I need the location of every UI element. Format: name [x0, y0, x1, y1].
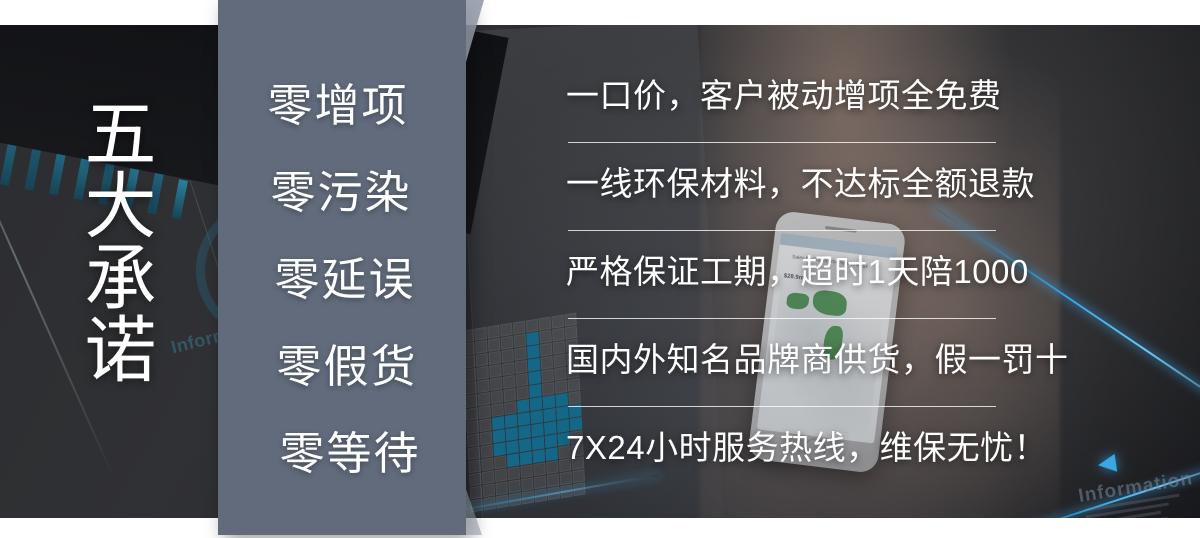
- grid-cell: [503, 388, 515, 402]
- grid-cell: [520, 464, 532, 478]
- promise-text-0: 一口价，客户被动增项全免费: [566, 74, 1002, 118]
- grid-cell: [539, 330, 551, 344]
- grid-cell: [526, 332, 538, 346]
- grid-cell: [505, 414, 517, 428]
- keyword-item-2: 零延误: [218, 232, 466, 319]
- grid-cell: [468, 446, 480, 460]
- grid-cell: [551, 315, 563, 329]
- bar-1: [0, 93, 26, 186]
- grid-cell: [466, 420, 478, 434]
- grid-cell: [543, 408, 555, 422]
- grid-cell: [467, 433, 479, 447]
- grid-cell: [546, 460, 558, 474]
- grid-cell: [507, 453, 519, 467]
- grid-cell: [539, 317, 551, 331]
- grid-cell: [503, 375, 515, 389]
- grid-cell: [481, 457, 493, 471]
- promise-row-1: 一线环保材料，不达标全额退款: [566, 154, 1036, 242]
- bar-8: [172, 179, 188, 219]
- grid-cell: [482, 470, 494, 484]
- keyword-list: 零增项 零污染 零延误 零假货 零等待: [218, 58, 466, 493]
- grid-cell: [528, 358, 540, 372]
- grid-cell: [545, 447, 557, 461]
- panel-fold-bottom-icon: [466, 489, 482, 535]
- promise-text-1: 一线环保材料，不达标全额退款: [566, 162, 1035, 206]
- grid-cell: [554, 367, 566, 381]
- grid-cell: [492, 416, 504, 430]
- grid-cell: [542, 382, 554, 396]
- grid-cell: [506, 440, 518, 454]
- grid-cell: [541, 356, 553, 370]
- promise-row-0: 一口价，客户被动增项全免费: [566, 66, 1036, 154]
- grid-cell: [476, 353, 488, 367]
- grid-cell: [547, 473, 559, 487]
- grid-cell: [504, 401, 516, 415]
- grid-cell: [553, 341, 565, 355]
- grid-cell: [533, 449, 545, 463]
- grid-cell: [501, 349, 513, 363]
- promise-divider-0: [568, 142, 996, 143]
- grid-cell: [552, 328, 564, 342]
- grid-cell: [514, 334, 526, 348]
- grid-cell: [478, 405, 490, 419]
- grid-cell: [518, 412, 530, 426]
- grid-cell: [528, 371, 540, 385]
- grid-cell: [474, 327, 486, 341]
- grid-cell: [465, 394, 477, 408]
- keyword-item-0: 零增项: [218, 58, 466, 145]
- promise-row-4: 7X24小时服务热线，维保无忧！: [566, 418, 1036, 506]
- promise-divider-3: [568, 406, 996, 407]
- grid-cell: [533, 462, 545, 476]
- keyword-panel: 零增项 零污染 零延误 零假货 零等待: [218, 0, 466, 535]
- keyword-item-1: 零污染: [218, 145, 466, 232]
- grid-cell: [468, 459, 480, 473]
- promise-divider-2: [568, 318, 996, 319]
- grid-cell: [508, 479, 520, 493]
- grid-cell: [476, 366, 488, 380]
- grid-cell: [520, 451, 532, 465]
- grid-cell: [491, 390, 503, 404]
- grid-cell: [487, 325, 499, 339]
- grid-cell: [517, 399, 529, 413]
- neon-arrow-icon: [1097, 454, 1117, 474]
- grid-cell: [494, 455, 506, 469]
- grid-cell: [553, 354, 565, 368]
- grid-cell: [541, 369, 553, 383]
- grid-cell: [493, 442, 505, 456]
- grid-cell: [527, 345, 539, 359]
- promise-row-2: 严格保证工期，超时1天陪1000: [566, 242, 1036, 330]
- grid-cell: [495, 481, 507, 495]
- grid-cell: [529, 384, 541, 398]
- promise-text-2: 严格保证工期，超时1天陪1000: [566, 250, 1029, 294]
- grid-cell: [532, 436, 544, 450]
- grid-cell: [506, 427, 518, 441]
- keyword-item-4: 零等待: [218, 406, 466, 493]
- grid-cell: [475, 340, 487, 354]
- grid-cell: [516, 386, 528, 400]
- grid-cell: [543, 395, 555, 409]
- grid-cell: [530, 397, 542, 411]
- grid-cell: [464, 381, 476, 395]
- promise-list: 一口价，客户被动增项全免费 一线环保材料，不达标全额退款 严格保证工期，超时1天…: [566, 66, 1036, 506]
- grid-cell: [491, 403, 503, 417]
- grid-cell: [478, 392, 490, 406]
- page-title: 五大承诺: [60, 96, 152, 426]
- grid-cell: [479, 418, 491, 432]
- grid-cell: [495, 468, 507, 482]
- grid-cell: [540, 343, 552, 357]
- grid-cell: [466, 407, 478, 421]
- grid-cell: [521, 477, 533, 491]
- grid-cell: [516, 373, 528, 387]
- promise-text-4: 7X24小时服务热线，维保无忧！: [566, 426, 1047, 470]
- grid-cell: [490, 377, 502, 391]
- grid-cell: [500, 323, 512, 337]
- grid-cell: [518, 425, 530, 439]
- grid-cell: [488, 338, 500, 352]
- grid-cell: [531, 410, 543, 424]
- grid-cell: [508, 466, 520, 480]
- keyword-item-3: 零假货: [218, 319, 466, 406]
- grid-cell: [493, 429, 505, 443]
- grid-cell: [477, 379, 489, 393]
- grid-cell: [481, 444, 493, 458]
- grid-cell: [519, 438, 531, 452]
- promise-divider-1: [568, 230, 996, 231]
- grid-cell: [489, 364, 501, 378]
- grid-cell: [513, 321, 525, 335]
- grid-cell: [514, 347, 526, 361]
- grid-cell: [544, 421, 556, 435]
- grid-cell: [531, 423, 543, 437]
- grid-cell: [545, 434, 557, 448]
- promise-text-3: 国内外知名品牌商供货，假一罚十: [566, 338, 1069, 382]
- grid-cell: [526, 319, 538, 333]
- grid-cell: [469, 472, 481, 486]
- grid-cell: [534, 475, 546, 489]
- grid-cell: [489, 351, 501, 365]
- grid-cell: [480, 431, 492, 445]
- grid-cell: [483, 483, 495, 497]
- promise-row-3: 国内外知名品牌商供货，假一罚十: [566, 330, 1036, 418]
- panel-fold-top-icon: [466, 0, 484, 62]
- grid-cell: [501, 336, 513, 350]
- grid-cell: [502, 362, 514, 376]
- promise-banner: Information Information Sales by Country…: [0, 0, 1200, 538]
- grid-cell: [515, 360, 527, 374]
